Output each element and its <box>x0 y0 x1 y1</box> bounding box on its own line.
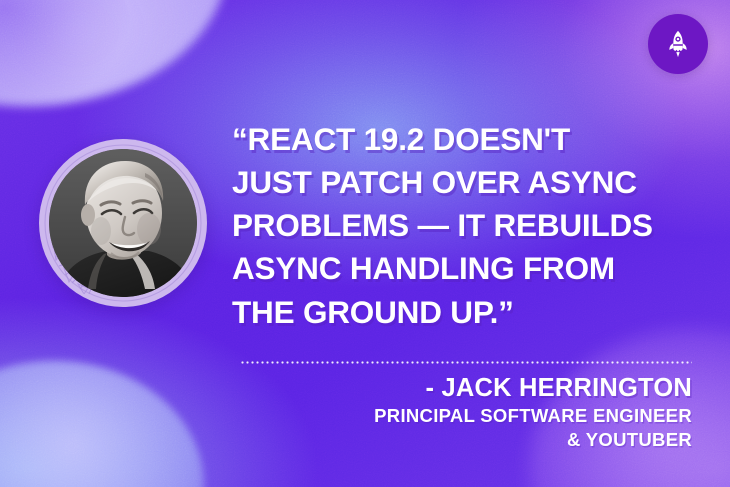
quote-text: “REACT 19.2 DOESN'T JUST PATCH OVER ASYN… <box>232 118 694 334</box>
avatar-photo <box>49 149 197 297</box>
quote-line-3: PROBLEMS — IT REBUILDS <box>232 204 694 247</box>
attribution: - JACK HERRINGTON PRINCIPAL SOFTWARE ENG… <box>222 374 692 452</box>
quote-line-1: “REACT 19.2 DOESN'T <box>232 118 694 161</box>
logo-badge[interactable] <box>648 14 708 74</box>
quote-line-2: JUST PATCH OVER ASYNC <box>232 161 694 204</box>
dotted-divider <box>240 361 692 364</box>
quote-line-4: ASYNC HANDLING FROM <box>232 247 694 290</box>
quote-card: “REACT 19.2 DOESN'T JUST PATCH OVER ASYN… <box>0 0 730 487</box>
attribution-role-line-2: & YOUTUBER <box>222 428 692 452</box>
quote-line-5: THE GROUND UP.” <box>232 291 694 334</box>
avatar <box>39 139 207 307</box>
attribution-name: - JACK HERRINGTON <box>222 374 692 404</box>
person-portrait-illustration <box>49 149 197 297</box>
attribution-role-line-1: PRINCIPAL SOFTWARE ENGINEER <box>222 404 692 428</box>
rocket-icon <box>663 29 693 59</box>
